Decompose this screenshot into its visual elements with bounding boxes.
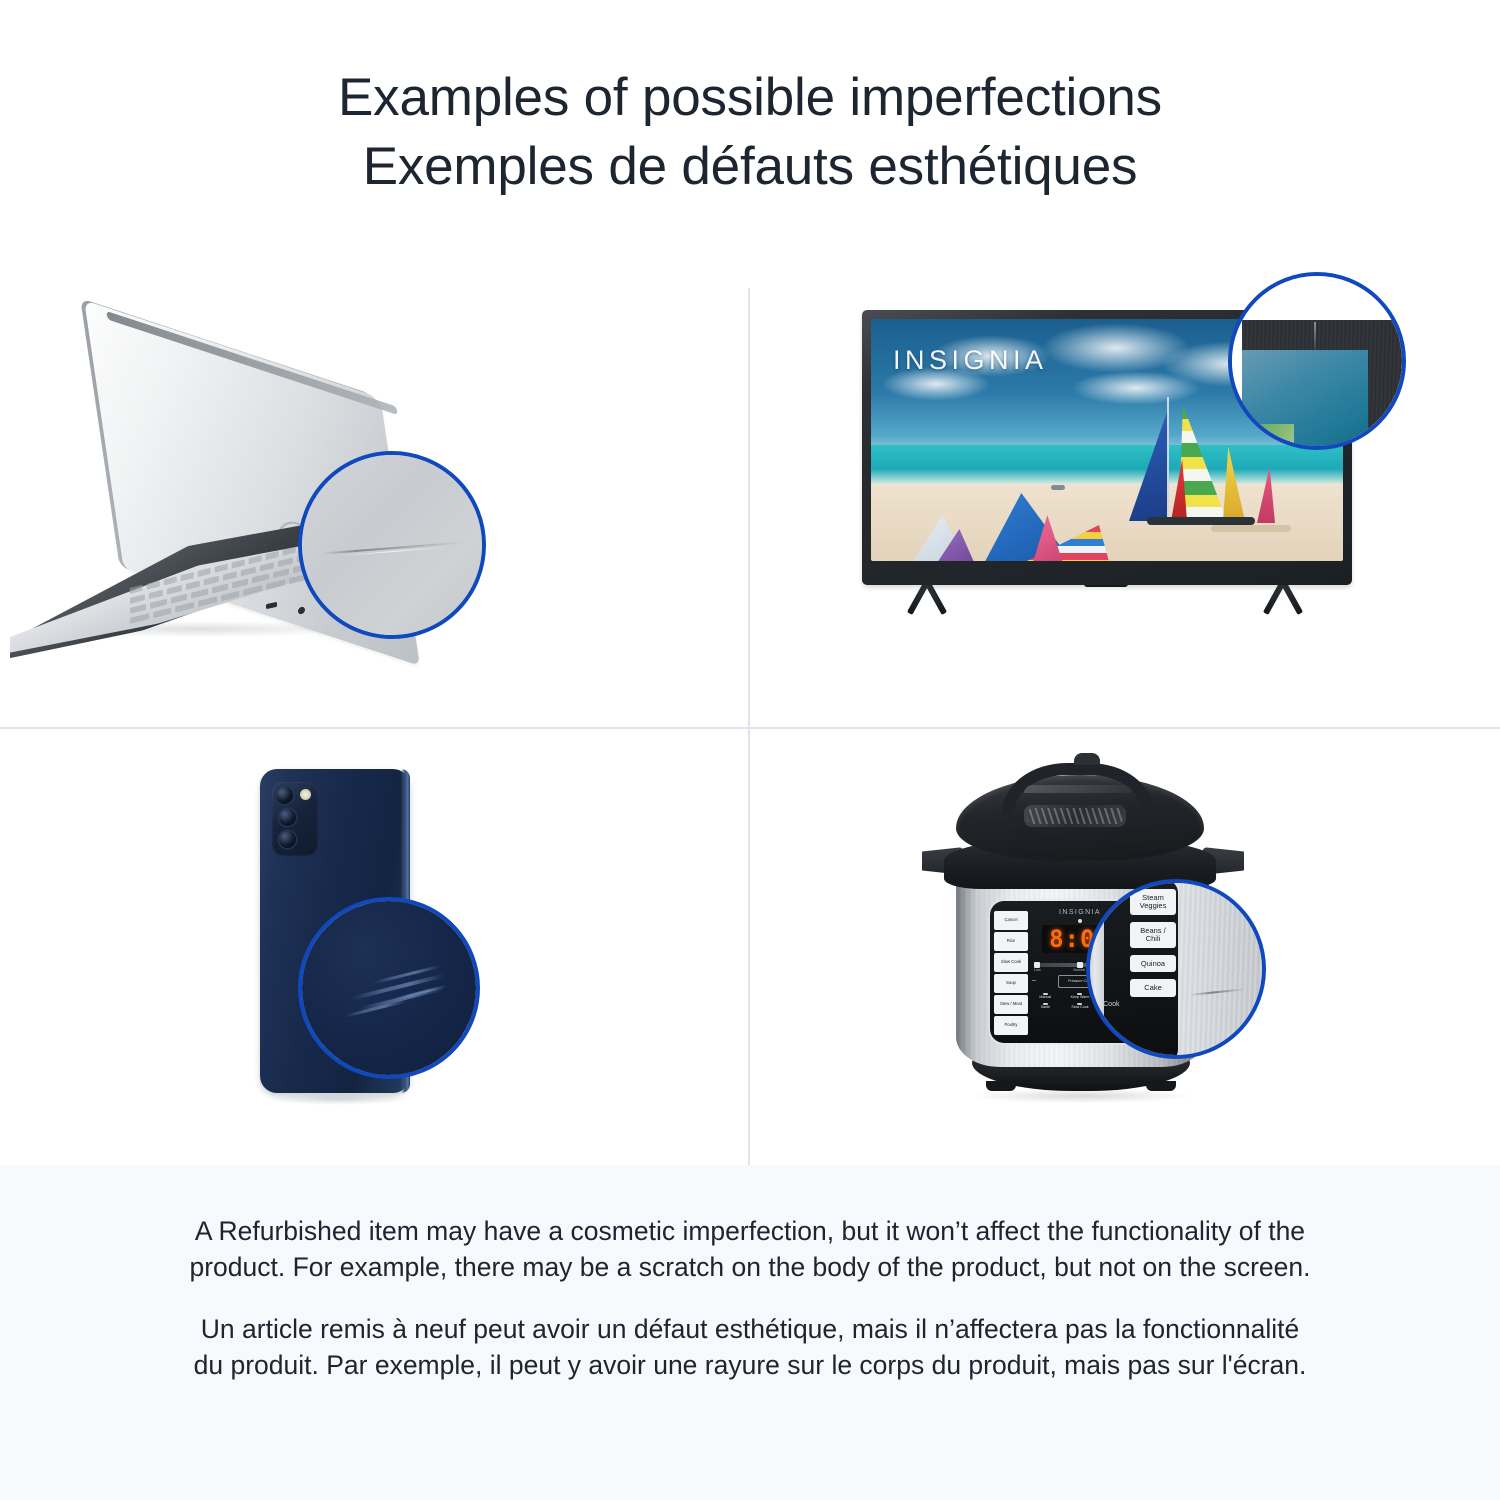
panel-pressure-cooker: INSIGNIA 8:00 Cancel Rice Slow Cook Soup…	[750, 729, 1500, 1165]
cooker-button-magnified[interactable]: Beans / Chili	[1130, 922, 1176, 948]
tv-stage: INSIGNIA	[750, 265, 1500, 727]
page-title-en: Examples of possible imperfections	[338, 67, 1162, 130]
phone-scuff-mark	[373, 965, 442, 985]
boat-hull	[1211, 525, 1291, 532]
cooker-function-key-label: Manual	[1039, 995, 1051, 999]
cooker-indicator-light	[1078, 919, 1082, 923]
cooker-button[interactable]: Rice	[994, 932, 1028, 951]
cooker-stage: INSIGNIA 8:00 Cancel Rice Slow Cook Soup…	[750, 729, 1500, 1165]
camera-lens-icon	[276, 787, 293, 804]
cloud-icon	[1071, 371, 1201, 405]
cooker-foot-pad	[986, 1081, 1016, 1091]
cooker-function-key[interactable]: Manual	[1030, 993, 1061, 1000]
boat-hull	[1147, 517, 1255, 525]
tv-screen-magnified	[1242, 350, 1368, 450]
cooker-illustration: INSIGNIA 8:00 Cancel Rice Slow Cook Soup…	[928, 751, 1328, 1141]
magnifier-cooker-content: Steam Veggies Beans / Chili Quinoa Cake …	[1086, 879, 1266, 1059]
cooker-button-column-left: Cancel Rice Slow Cook Soup Stew / Meat P…	[994, 911, 1028, 1035]
sail-yellow	[1223, 447, 1245, 521]
cooker-button-magnified[interactable]: Quinoa	[1130, 955, 1176, 973]
laptop-illustration	[10, 353, 530, 673]
tv-leg-right	[1250, 582, 1316, 618]
magnifier-phone	[298, 897, 480, 1079]
product-grid: INSIGNIA	[0, 265, 1500, 1165]
cooker-buttons-magnified: Steam Veggies Beans / Chili Quinoa Cake	[1130, 889, 1176, 997]
panel-smartphone	[0, 729, 748, 1165]
cooker-function-key-label: Slow Cook	[1071, 1005, 1088, 1009]
cooker-function-key-label: Keep Warm	[1071, 995, 1090, 999]
phone-illustration	[250, 769, 530, 1129]
cooker-button[interactable]: Stew / Meat	[994, 995, 1028, 1014]
panel-television: INSIGNIA	[750, 265, 1500, 727]
description-fr: Un article remis à neuf peut avoir un dé…	[185, 1311, 1315, 1383]
cooker-button-magnified[interactable]: Steam Veggies	[1130, 889, 1176, 915]
magnifier-tv	[1228, 272, 1406, 450]
phone-stage	[0, 729, 748, 1165]
cooker-button[interactable]: Poultry	[994, 1016, 1028, 1035]
magnifier-cooker: Steam Veggies Beans / Chili Quinoa Cake …	[1086, 879, 1266, 1059]
cooker-button[interactable]: Slow Cook	[994, 953, 1028, 972]
tv-leg-left	[894, 582, 960, 618]
phone-shadow	[268, 1093, 408, 1105]
cooker-function-key[interactable]: Sauté	[1030, 1003, 1061, 1010]
cooker-slider-label: Low	[1034, 968, 1041, 972]
page-header: Examples of possible imperfections Exemp…	[0, 0, 1500, 265]
cooker-foot-pad	[1146, 1081, 1176, 1091]
cooker-pressure-valve	[1074, 753, 1100, 765]
camera-lens-icon	[279, 831, 296, 848]
sail-mast	[1167, 397, 1169, 523]
cooker-function-key-label: Sauté	[1041, 1005, 1050, 1009]
page-title-fr: Exemples de défauts esthétiques	[363, 136, 1138, 199]
cooker-minus-button[interactable]: –	[1032, 977, 1036, 984]
cooker-button[interactable]: Cancel	[994, 911, 1028, 930]
tv-screen-logo: INSIGNIA	[893, 345, 1048, 376]
sail-blue	[1129, 411, 1169, 521]
magnifier-phone-content	[298, 897, 480, 1079]
beach-boat-far	[1051, 485, 1065, 490]
cooker-button-magnified[interactable]: Cake	[1130, 979, 1176, 997]
sail-pink	[1257, 467, 1275, 523]
cooker-lid-handle	[1002, 763, 1154, 813]
magnifier-laptop	[298, 451, 486, 639]
magnifier-tv-content	[1228, 272, 1406, 450]
camera-module	[272, 782, 318, 856]
cooker-steel-texture	[1178, 879, 1266, 1059]
infographic-page: Examples of possible imperfections Exemp…	[0, 0, 1500, 1500]
laptop-stage	[0, 265, 748, 727]
panel-laptop	[0, 265, 748, 727]
tv-illustration: INSIGNIA	[862, 310, 1362, 670]
camera-flash-icon	[300, 789, 311, 800]
description-en: A Refurbished item may have a cosmetic i…	[185, 1213, 1315, 1285]
cooker-shadow	[972, 1089, 1192, 1103]
footer-description: A Refurbished item may have a cosmetic i…	[0, 1165, 1500, 1500]
cooker-slider-label: Normal	[1073, 968, 1085, 972]
magnifier-laptop-content	[298, 451, 486, 639]
sail-striped	[1179, 405, 1227, 521]
tv-scratch-mark	[1314, 322, 1316, 354]
camera-lens-icon	[279, 809, 296, 826]
